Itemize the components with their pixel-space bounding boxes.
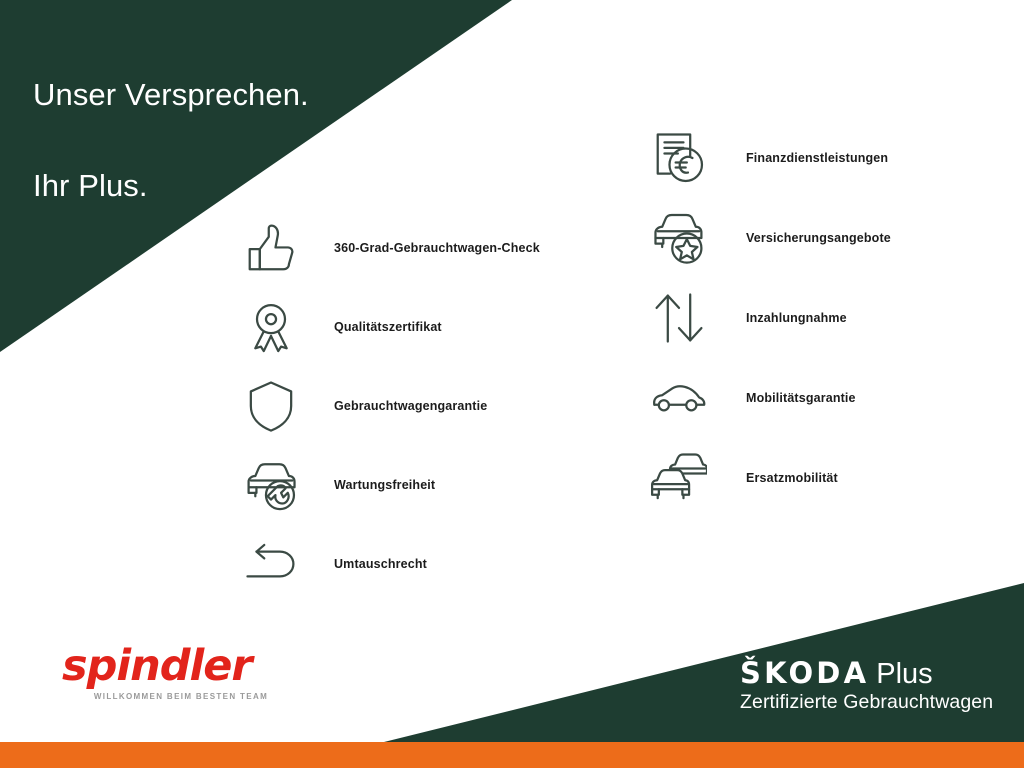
feature-item-replacement-mobility: Ersatzmobilität	[648, 438, 891, 518]
car-wrench-icon	[240, 454, 302, 516]
headline-line-2: Ihr Plus.	[33, 163, 309, 209]
feature-item-maintenance-free: Wartungsfreiheit	[240, 445, 540, 524]
feature-label: Inzahlungnahme	[746, 311, 847, 325]
headline-line-1: Unser Versprechen.	[33, 72, 309, 118]
brand-logo-primary: ŠKODAPlus	[740, 658, 993, 690]
feature-item-trade-in: Inzahlungnahme	[648, 278, 891, 358]
feature-label: Umtauschrecht	[334, 557, 427, 571]
award-rosette-icon	[240, 296, 302, 358]
feature-label: Wartungsfreiheit	[334, 478, 435, 492]
feature-label: Finanzdienstleistungen	[746, 151, 888, 165]
feature-item-financial-services: Finanzdienstleistungen	[648, 118, 891, 198]
brand-logo: ŠKODAPlus Zertifizierte Gebrauchtwagen	[740, 658, 993, 714]
feature-item-mobility-guarantee: Mobilitätsgarantie	[648, 358, 891, 438]
feature-list-left: 360-Grad-Gebrauchtwagen-Check Qualitätsz…	[240, 208, 540, 603]
feature-label: 360-Grad-Gebrauchtwagen-Check	[334, 241, 540, 255]
feature-label: Qualitätszertifikat	[334, 320, 442, 334]
feature-label: Gebrauchtwagengarantie	[334, 399, 487, 413]
dealer-wordmark: spindler	[62, 645, 312, 688]
car-side-icon	[648, 367, 710, 429]
feature-item-360-check: 360-Grad-Gebrauchtwagen-Check	[240, 208, 540, 287]
thumbs-up-icon	[240, 217, 302, 279]
feature-item-return-right: Umtauschrecht	[240, 524, 540, 603]
return-arrow-icon	[240, 533, 302, 595]
feature-list-right: Finanzdienstleistungen Versicherungsange…	[648, 118, 891, 518]
feature-label: Versicherungsangebote	[746, 231, 891, 245]
skoda-plus-label: Plus	[876, 658, 932, 690]
orange-footer-bar	[0, 742, 1024, 768]
shield-icon	[240, 375, 302, 437]
promo-banner: Unser Versprechen. Ihr Plus. 360-Grad-Ge…	[0, 0, 1024, 768]
feature-item-quality-certificate: Qualitätszertifikat	[240, 287, 540, 366]
skoda-wordmark: ŠKODA	[740, 656, 869, 690]
feature-item-warranty: Gebrauchtwagengarantie	[240, 366, 540, 445]
feature-label: Mobilitätsgarantie	[746, 391, 856, 405]
two-cars-icon	[648, 447, 710, 509]
feature-label: Ersatzmobilität	[746, 471, 838, 485]
document-euro-icon	[648, 127, 710, 189]
brand-logo-subtitle: Zertifizierte Gebrauchtwagen	[740, 691, 993, 714]
car-star-icon	[648, 207, 710, 269]
feature-item-insurance: Versicherungsangebote	[648, 198, 891, 278]
up-down-arrows-icon	[648, 287, 710, 349]
dealer-tagline: WILLKOMMEN BEIM BESTEN TEAM	[62, 692, 300, 701]
dealer-logo: spindler WILLKOMMEN BEIM BESTEN TEAM	[62, 645, 312, 701]
